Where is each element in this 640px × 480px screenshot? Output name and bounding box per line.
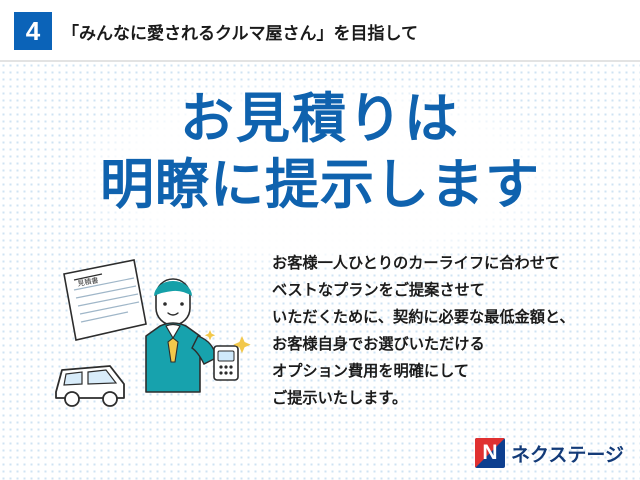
body-paragraph: お客様一人ひとりのカーライフに合わせて ベストなプランをご提案させて いただくた… [272, 250, 622, 412]
logo-mark-icon: N [475, 438, 505, 468]
headline: お見積りは 明瞭に提示します [0, 86, 640, 218]
content-area: お見積りは 明瞭に提示します お客様一人ひとりのカーライフに合わせて ベストなプ… [0, 62, 640, 480]
page-title: 「みんなに愛されるクルマ屋さん」を目指して [62, 19, 418, 44]
paragraph-line-1: お客様一人ひとりのカーライフに合わせて [272, 250, 622, 277]
headline-line-2: 明瞭に提示します [0, 152, 640, 218]
page-header: 4 「みんなに愛されるクルマ屋さん」を目指して [0, 0, 640, 62]
brand-logo: N ネクステージ [475, 438, 624, 468]
promo-page: 4 「みんなに愛されるクルマ屋さん」を目指して お見積りは 明瞭に提示します お… [0, 0, 640, 480]
illustration: 見積書 [38, 252, 268, 432]
car-icon [56, 366, 124, 406]
paragraph-line-6: ご提示いたします。 [272, 385, 622, 412]
paragraph-line-3: いただくために、契約に必要な最低金額と、 [272, 304, 622, 331]
paragraph-line-4: お客様自身でお選びいただける [272, 331, 622, 358]
logo-mark-letter: N [475, 438, 505, 468]
paragraph-line-5: オプション費用を明確にして [272, 358, 622, 385]
logo-text: ネクステージ [511, 440, 624, 467]
section-number-badge: 4 [14, 12, 52, 50]
paragraph-line-2: ベストなプランをご提案させて [272, 277, 622, 304]
headline-line-1: お見積りは [0, 86, 640, 152]
estimate-document-icon: 見積書 [64, 260, 146, 340]
staff-person-icon [146, 279, 251, 392]
